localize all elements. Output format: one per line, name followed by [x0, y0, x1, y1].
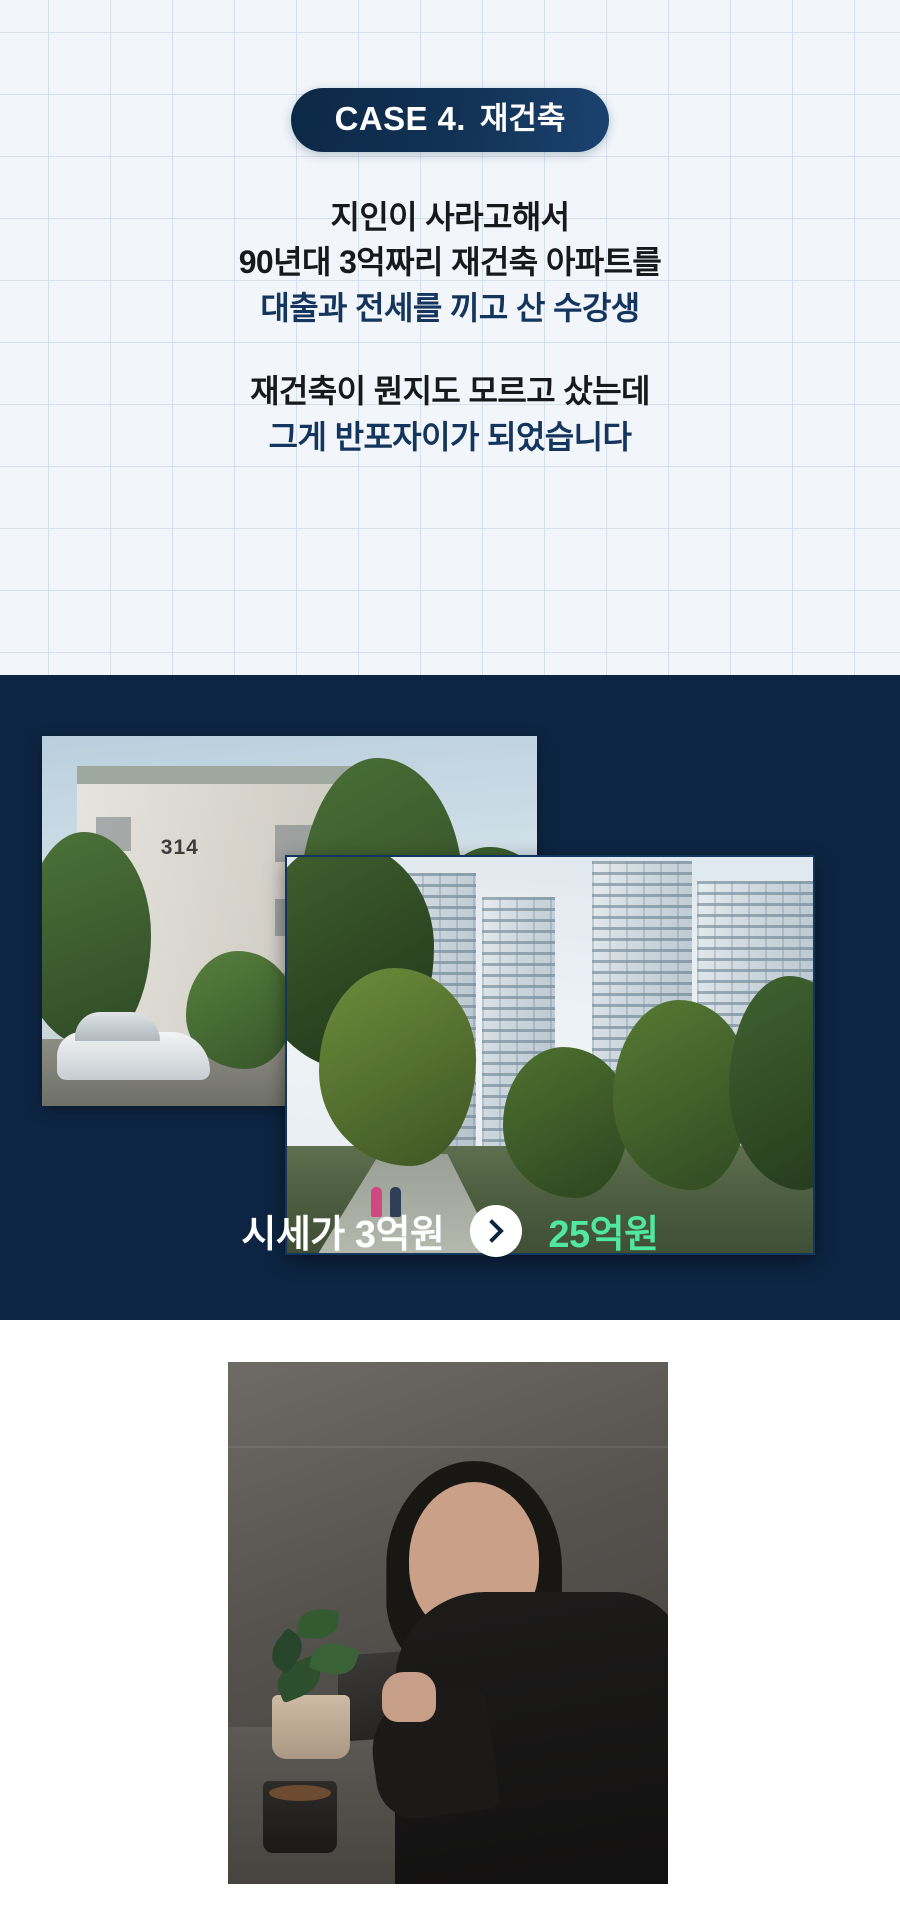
portrait-wall-line — [228, 1446, 668, 1448]
before-photo-car — [57, 1032, 210, 1080]
testimonial-photo-section — [0, 1320, 900, 1932]
promo-page: CASE 4. 재건축 지인이 사라고해서 90년대 3억짜리 재건축 아파트를… — [0, 0, 900, 1932]
before-after-section: 314 — [0, 675, 900, 1320]
case-badge-label: CASE 4. — [335, 102, 466, 135]
intro-section: CASE 4. 재건축 지인이 사라고해서 90년대 3억짜리 재건축 아파트를… — [0, 0, 900, 675]
case-badge-topic: 재건축 — [480, 103, 566, 134]
portrait-coffee-mug — [263, 1781, 337, 1853]
before-photo-roofline — [77, 766, 364, 785]
headline-line-3: 대출과 전세를 끼고 산 수강생 — [0, 286, 900, 331]
case-badge-container: CASE 4. 재건축 — [0, 88, 900, 152]
after-photo — [285, 855, 815, 1255]
after-photo-tree — [503, 1047, 629, 1197]
price-after-label: 25억원 — [548, 1203, 658, 1258]
headline-line-1: 지인이 사라고해서 — [0, 195, 900, 240]
chevron-right-icon — [470, 1205, 522, 1257]
portrait-plant-pot — [272, 1695, 350, 1759]
price-before-label: 시세가 3억원 — [241, 1203, 444, 1258]
case-badge: CASE 4. 재건축 — [291, 88, 610, 152]
price-comparison-row: 시세가 3억원 25억원 — [0, 1203, 900, 1258]
headline-block: 지인이 사라고해서 90년대 3억짜리 재건축 아파트를 대출과 전세를 끼고 … — [0, 195, 900, 460]
student-portrait-photo — [228, 1362, 668, 1884]
headline-line-5: 그게 반포자이가 되었습니다 — [0, 415, 900, 460]
headline-spacer — [0, 331, 900, 369]
before-photo-building-number: 314 — [161, 836, 199, 860]
headline-line-4: 재건축이 뭔지도 모르고 샀는데 — [0, 369, 900, 414]
portrait-fist — [382, 1672, 436, 1722]
headline-line-2: 90년대 3억짜리 재건축 아파트를 — [0, 240, 900, 285]
